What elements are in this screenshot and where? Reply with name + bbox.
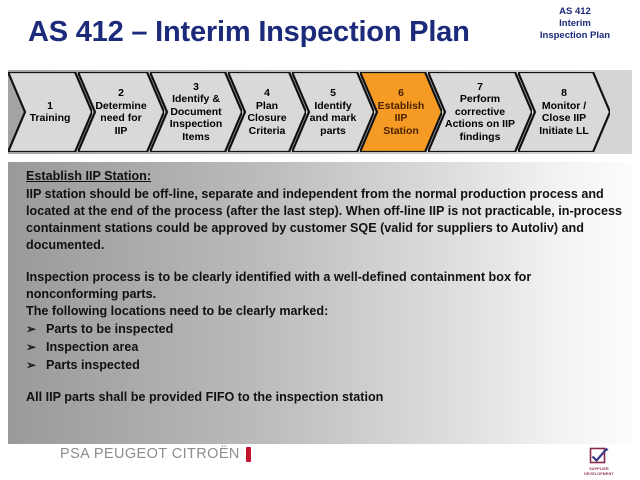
process-flow-band: 1Training2Determineneed forIIP3Identify … <box>8 70 632 154</box>
psa-red-bar-icon <box>246 447 251 462</box>
process-step-line: Initiate LL <box>539 125 589 138</box>
process-step-label: 3Identify &DocumentInspectionItems <box>168 81 225 144</box>
process-step-line: Determine <box>95 100 146 113</box>
process-step-number: 1 <box>30 100 71 113</box>
content-paragraph-3: The following locations need to be clear… <box>26 303 624 320</box>
badge-label-line-1: SUPPLIER <box>589 467 609 471</box>
process-step-label: 4PlanClosureCriteria <box>245 87 288 137</box>
psa-peugeot-citroen-logo: PSA PEUGEOT CITROËN <box>60 444 251 464</box>
process-step-number: 4 <box>247 87 286 100</box>
process-step-line: Monitor / <box>539 100 589 113</box>
process-step-line: IIP <box>378 112 425 125</box>
content-panel: Establish IIP Station: IIP station shoul… <box>8 162 632 444</box>
process-step-number: 8 <box>539 87 589 100</box>
arrow-bullet-icon: ➢ <box>26 356 46 374</box>
paragraph-spacer-1 <box>26 254 624 269</box>
process-step-line: Inspection <box>170 118 223 131</box>
slide-corner-label: AS 412 Interim Inspection Plan <box>520 6 630 42</box>
process-step-line: Identify <box>310 100 357 113</box>
process-step-label: 1Training <box>28 100 73 125</box>
content-text-block: Establish IIP Station: IIP station shoul… <box>26 168 624 406</box>
process-step-line: Identify & <box>170 93 223 106</box>
process-step-number: 3 <box>170 81 223 94</box>
process-step-line: parts <box>310 125 357 138</box>
process-step-label: 2Determineneed forIIP <box>93 87 148 137</box>
supplier-development-checkmark-icon <box>588 446 610 466</box>
list-item-label: Parts to be inspected <box>46 320 173 338</box>
process-step-label: 8Monitor /Close IIPInitiate LL <box>537 87 591 137</box>
process-step-number: 6 <box>378 87 425 100</box>
content-paragraph-4: All IIP parts shall be provided FIFO to … <box>26 389 624 406</box>
process-step-line: Closure <box>247 112 286 125</box>
badge-label-line-2: DEVELOPMENT <box>584 472 614 476</box>
process-step-line: Training <box>30 112 71 125</box>
process-step-1[interactable]: 1Training <box>8 72 92 152</box>
list-item-label: Inspection area <box>46 338 138 356</box>
process-step-line: Establish <box>378 100 425 113</box>
list-item: ➢ Parts inspected <box>26 356 624 374</box>
process-step-number: 5 <box>310 87 357 100</box>
content-heading: Establish IIP Station: <box>26 168 624 185</box>
arrow-bullet-icon: ➢ <box>26 338 46 356</box>
supplier-development-label: SUPPLIER DEVELOPMENT <box>570 467 628 476</box>
content-paragraph-2: Inspection process is to be clearly iden… <box>26 269 624 303</box>
list-item: ➢ Inspection area <box>26 338 624 356</box>
process-step-line: corrective <box>445 106 515 119</box>
process-step-number: 7 <box>445 81 515 94</box>
psa-wordmark: PSA PEUGEOT CITROËN <box>60 446 240 462</box>
process-step-label: 6EstablishIIPStation <box>376 87 427 137</box>
content-paragraph-1: IIP station should be off-line, separate… <box>26 186 624 254</box>
process-step-label: 5Identifyand markparts <box>308 87 359 137</box>
process-step-line: findings <box>445 131 515 144</box>
process-step-line: Perform <box>445 93 515 106</box>
paragraph-spacer-2 <box>26 374 624 389</box>
process-step-line: Plan <box>247 100 286 113</box>
process-step-line: IIP <box>95 125 146 138</box>
process-step-line: Criteria <box>247 125 286 138</box>
page-title: AS 412 – Interim Inspection Plan <box>28 16 470 49</box>
corner-label-line-1: AS 412 <box>559 6 591 17</box>
process-step-line: Actions on IIP <box>445 118 515 131</box>
process-step-line: and mark <box>310 112 357 125</box>
process-step-line: Station <box>378 125 425 138</box>
process-step-number: 2 <box>95 87 146 100</box>
process-step-line: Document <box>170 106 223 119</box>
corner-label-line-2: Interim <box>559 18 591 29</box>
arrow-bullet-icon: ➢ <box>26 320 46 338</box>
supplier-development-badge: SUPPLIER DEVELOPMENT <box>570 446 628 476</box>
process-step-line: Close IIP <box>539 112 589 125</box>
process-step-label: 7PerformcorrectiveActions on IIPfindings <box>443 81 517 144</box>
process-step-line: Items <box>170 131 223 144</box>
list-item: ➢ Parts to be inspected <box>26 320 624 338</box>
list-item-label: Parts inspected <box>46 356 140 374</box>
corner-label-line-3: Inspection Plan <box>540 30 610 41</box>
process-step-line: need for <box>95 112 146 125</box>
process-step-7[interactable]: 7PerformcorrectiveActions on IIPfindings <box>428 72 532 152</box>
